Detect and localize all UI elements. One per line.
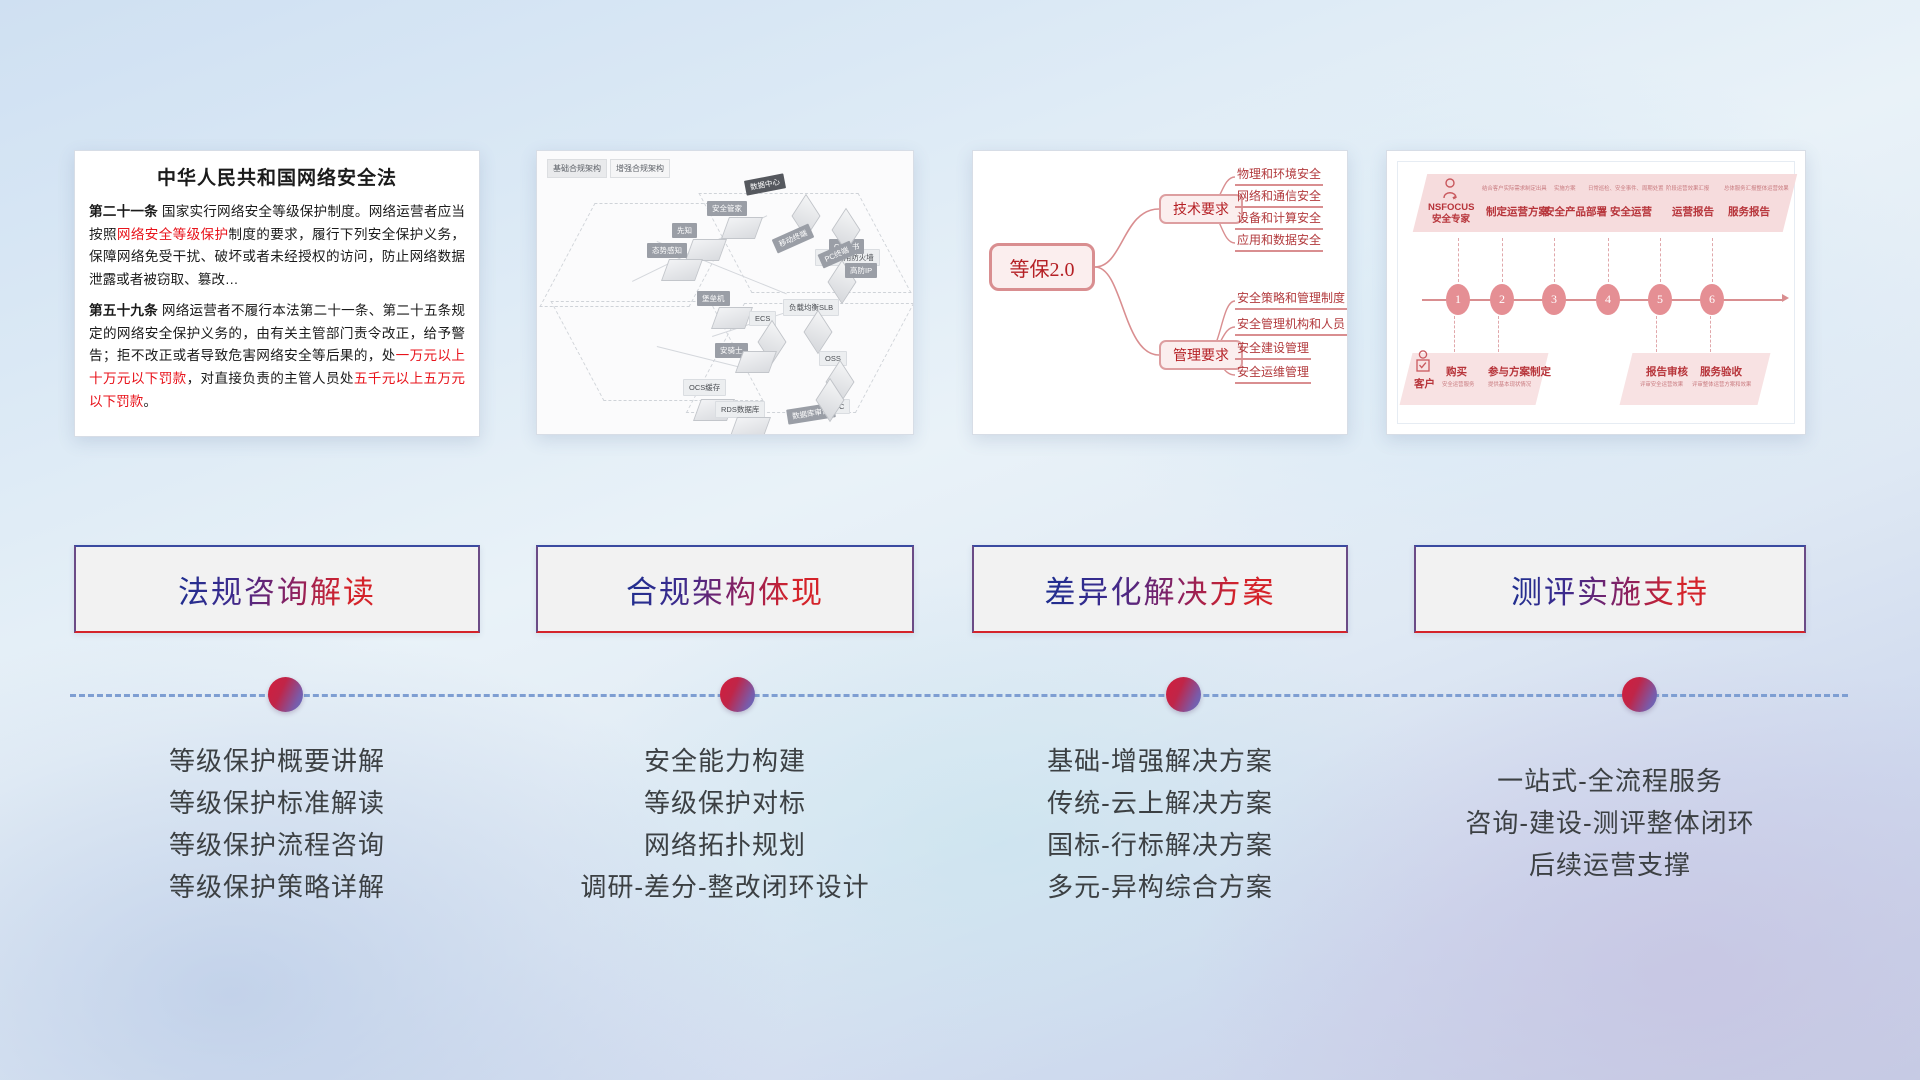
timeline-dash-6 [1712,238,1713,282]
arch-node-xianzhi: 先知 [672,223,697,238]
timeline-label-5: 运营报告 [1672,204,1714,219]
timeline-dot-2: 2 [1490,284,1514,315]
detail-column-2: 安全能力构建 等级保护对标 网络拓扑规划 调研-差分-整改闭环设计 [536,740,914,908]
title-box-row: 法规咨询解读 合规架构体现 差异化解决方案 测评实施支持 [0,545,1920,641]
timeline-sub-2: 结合客户实际需求制定出具 [1482,184,1547,192]
mindmap-leaf-physical-env: 物理和环境安全 [1235,165,1323,186]
list-item: 等级保护流程咨询 [74,824,480,866]
list-item: 基础-增强解决方案 [972,740,1348,782]
list-item: 传统-云上解决方案 [972,782,1348,824]
timeline-sub-6: 总体服务汇报整体运营效果 [1724,184,1789,192]
timeline-bottom-sub-4: 评审整体运营方案和效果 [1692,380,1751,388]
slide-canvas: 中华人民共和国网络安全法 第二十一条 国家实行网络安全等级保护制度。网络运营者应… [0,0,1920,1080]
law-article-59: 第五十九条 网络运营者不履行本法第二十一条、第二十五条规定的网络安全保护义务的，… [89,300,465,413]
timeline-band-bottom-right [1620,353,1771,405]
arch-node-rds: RDS数据库 [715,401,765,418]
arch-node-slb: 负载均衡SLB [783,299,839,316]
list-item: 调研-差分-整改闭环设计 [536,866,914,908]
mindmap-root: 等保2.0 [989,243,1095,291]
list-item: 等级保护策略详解 [74,866,480,908]
timeline-dash-b1 [1454,316,1455,352]
timeline-dot-1: 1 [1446,284,1470,315]
timeline-canvas: NSFOCUS 安全专家 结合客户实际需求制定出具 制定运营方案 实施方案 安全… [1387,151,1805,434]
article-21-label: 第二十一条 [89,204,158,219]
list-item: 等级保护概要讲解 [74,740,480,782]
expert-person-icon [1440,178,1460,200]
mindmap-branch-technical: 技术要求 [1159,194,1243,224]
process-timeline [70,694,1848,696]
architecture-tabs: 基础合规架构 增强合规架构 [547,159,670,178]
mindmap-leaf-org-personnel: 安全管理机构和人员 [1235,315,1347,336]
mindmap-canvas: 等保2.0 技术要求 物理和环境安全 网络和通信安全 设备和计算安全 应用和数据… [973,151,1347,434]
timeline-bottom-label-3: 报告审核 [1646,364,1688,379]
article-59-text-3: 。 [143,394,157,409]
timeline-bottom-sub-3: 评审安全运营效果 [1640,380,1683,388]
arch-icon-rds [729,417,771,435]
timeline-arrow-icon [1782,294,1789,302]
mindmap-leaf-construction-mgmt: 安全建设管理 [1235,339,1311,360]
timeline-dash-4 [1608,238,1609,282]
title-text-4: 测评实施支持 [1511,567,1709,612]
customer-person-icon [1414,350,1432,374]
card-service-timeline: NSFOCUS 安全专家 结合客户实际需求制定出具 制定运营方案 实施方案 安全… [1386,150,1806,435]
card-architecture-diagram: 基础合规架构 增强合规架构 数据中心 安全管家 先知 [536,150,914,435]
timeline-dot-5: 5 [1648,284,1672,315]
list-item: 等级保护标准解读 [74,782,480,824]
title-text-1: 法规咨询解读 [178,567,376,612]
mindmap-leaf-ops-mgmt: 安全运维管理 [1235,363,1311,384]
timeline-role-customer: 客户 [1414,376,1435,391]
title-text-2: 合规架构体现 [626,567,824,612]
arch-node-situational-awareness: 态势感知 [647,243,687,258]
timeline-role-expert: NSFOCUS 安全专家 [1428,202,1474,226]
timeline-dash-1 [1458,238,1459,282]
timeline-label-6: 服务报告 [1728,204,1770,219]
timeline-dash-b2 [1498,316,1499,352]
list-item: 安全能力构建 [536,740,914,782]
article-21-highlight: 网络安全等级保护 [117,227,229,242]
timeline-dot-4: 4 [1596,284,1620,315]
list-item: 多元-异构综合方案 [972,866,1348,908]
list-item: 国标-行标解决方案 [972,824,1348,866]
list-item: 一站式-全流程服务 [1414,760,1806,802]
timeline-dash-3 [1554,238,1555,282]
timeline-dash-2 [1502,238,1503,282]
title-box-differentiated-solution[interactable]: 差异化解决方案 [972,545,1348,633]
tab-enhanced-architecture: 增强合规架构 [610,159,670,178]
timeline-node-2[interactable] [720,677,755,712]
timeline-dot-6: 6 [1700,284,1724,315]
arch-node-security-butler: 安全管家 [707,201,747,216]
title-text-3: 差异化解决方案 [1045,567,1276,612]
detail-column-3: 基础-增强解决方案 传统-云上解决方案 国标-行标解决方案 多元-异构综合方案 [972,740,1348,908]
article-59-text-2: ，对直接负责的主管人员处 [187,371,354,386]
timeline-bottom-label-4: 服务验收 [1700,364,1742,379]
timeline-node-4[interactable] [1622,677,1657,712]
list-item: 后续运营支撑 [1414,844,1806,886]
arch-node-bastion-host: 堡垒机 [697,291,730,306]
mindmap-leaf-app-data: 应用和数据安全 [1235,231,1323,252]
timeline-dot-3: 3 [1542,284,1566,315]
timeline-bottom-sub-1: 安全运营服务 [1442,380,1474,388]
law-title: 中华人民共和国网络安全法 [89,163,465,190]
list-item: 网络拓扑规划 [536,824,914,866]
timeline-dash-5 [1660,238,1661,282]
timeline-sub-3: 实施方案 [1554,184,1576,192]
timeline-bottom-label-2: 参与方案制定 [1488,364,1551,379]
card-law-text: 中华人民共和国网络安全法 第二十一条 国家实行网络安全等级保护制度。网络运营者应… [74,150,480,437]
timeline-dash-b3 [1656,316,1657,352]
detail-column-4: 一站式-全流程服务 咨询-建设-测评整体闭环 后续运营支撑 [1414,760,1806,886]
timeline-label-4: 安全运营 [1610,204,1652,219]
tab-basic-architecture: 基础合规架构 [547,159,607,178]
list-item: 等级保护对标 [536,782,914,824]
timeline-label-3: 安全产品部署 [1544,204,1607,219]
timeline-bottom-label-1: 购买 [1446,364,1467,379]
article-59-label: 第五十九条 [89,303,158,318]
timeline-dashed-rule [70,694,1848,697]
timeline-label-2: 制定运营方案 [1486,204,1549,219]
mindmap-leaf-policy-system: 安全策略和管理制度 [1235,289,1347,310]
arch-node-ocs-cache: OCS缓存 [683,379,726,396]
title-box-compliance-architecture[interactable]: 合规架构体现 [536,545,914,633]
detail-list-row: 等级保护概要讲解 等级保护标准解读 等级保护流程咨询 等级保护策略详解 安全能力… [0,740,1920,970]
mindmap-leaf-device-compute: 设备和计算安全 [1235,209,1323,230]
mindmap-branch-management: 管理要求 [1159,340,1243,370]
image-card-row: 中华人民共和国网络安全法 第二十一条 国家实行网络安全等级保护制度。网络运营者应… [0,150,1920,440]
architecture-canvas: 基础合规架构 增强合规架构 数据中心 安全管家 先知 [537,151,913,434]
detail-column-1: 等级保护概要讲解 等级保护标准解读 等级保护流程咨询 等级保护策略详解 [74,740,480,908]
list-item: 咨询-建设-测评整体闭环 [1414,802,1806,844]
arch-icon-xianzhi [685,239,727,261]
card-mindmap: 等保2.0 技术要求 物理和环境安全 网络和通信安全 设备和计算安全 应用和数据… [972,150,1348,435]
arch-node-anti-ddos-ip: 高防IP [845,263,877,278]
title-box-assessment-support[interactable]: 测评实施支持 [1414,545,1806,633]
title-box-regulation-consulting[interactable]: 法规咨询解读 [74,545,480,633]
mindmap-leaf-network-comm: 网络和通信安全 [1235,187,1323,208]
timeline-frame: NSFOCUS 安全专家 结合客户实际需求制定出具 制定运营方案 实施方案 安全… [1397,161,1795,424]
timeline-bottom-sub-2: 提供基本现状情况 [1488,380,1531,388]
law-document: 中华人民共和国网络安全法 第二十一条 国家实行网络安全等级保护制度。网络运营者应… [75,151,479,430]
timeline-node-3[interactable] [1166,677,1201,712]
timeline-dash-b4 [1710,316,1711,352]
timeline-node-1[interactable] [268,677,303,712]
timeline-sub-4: 日常巡检、安全事件、周期处置 [1588,184,1663,192]
law-article-21: 第二十一条 国家实行网络安全等级保护制度。网络运营者应当按照网络安全等级保护制度… [89,201,465,291]
timeline-sub-5: 阶段运营效果汇报 [1666,184,1709,192]
